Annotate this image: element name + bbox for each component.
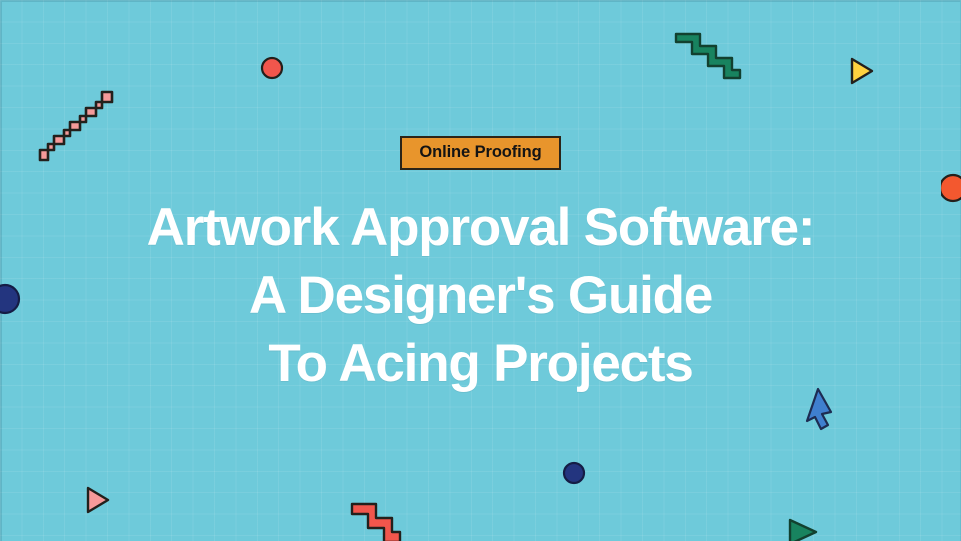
- headline-line-1: Artwork Approval Software:: [147, 194, 815, 262]
- page-title: Artwork Approval Software: A Designer's …: [147, 194, 815, 398]
- slide-content: Online Proofing Artwork Approval Softwar…: [0, 0, 961, 541]
- headline-line-2: A Designer's Guide: [147, 262, 815, 330]
- title-slide: Online Proofing Artwork Approval Softwar…: [0, 0, 961, 541]
- headline-line-3: To Acing Projects: [147, 330, 815, 398]
- category-badge: Online Proofing: [400, 136, 560, 170]
